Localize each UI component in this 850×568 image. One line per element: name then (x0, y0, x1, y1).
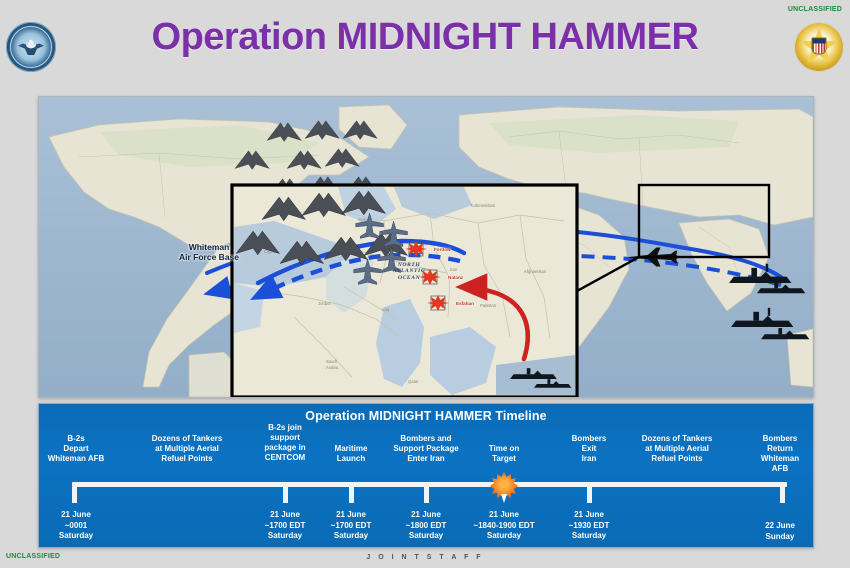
timeline-event-label: Time on Target (489, 444, 520, 464)
timeline-event-date: 21 June ~1930 EDT Saturday (569, 510, 610, 542)
timeline-event-date: 21 June ~1800 EDT Saturday (406, 510, 447, 542)
svg-text:Pakistan: Pakistan (480, 303, 497, 308)
timeline-event-label: Dozens of Tankers at Multiple Aerial Ref… (642, 434, 713, 464)
svg-text:Saudi: Saudi (326, 359, 337, 364)
timeline-tick (283, 487, 288, 503)
svg-text:Qatar: Qatar (408, 379, 419, 384)
operation-timeline: Operation MIDNIGHT HAMMER Timeline B-2s … (38, 403, 814, 548)
timeline-event-label: Bombers Return Whiteman AFB (761, 434, 799, 474)
svg-text:Iraq: Iraq (382, 307, 390, 312)
timeline-tick (587, 487, 592, 503)
svg-text:Arabia: Arabia (326, 365, 339, 370)
timeline-event-date: 21 June ~1700 EDT Saturday (265, 510, 306, 542)
time-on-target-pointer (501, 494, 507, 503)
operation-map: Turkey Turkmenistan Afghanistan Pakistan… (38, 96, 814, 398)
timeline-event-label: B-2s join support package in CENTCOM (264, 423, 305, 463)
timeline-event-label: Maritime Launch (335, 444, 368, 464)
svg-text:Iran: Iran (450, 267, 458, 272)
timeline-title: Operation MIDNIGHT HAMMER Timeline (39, 409, 813, 423)
page-title: Operation MIDNIGHT HAMMER (0, 16, 850, 59)
timeline-axis (72, 482, 787, 487)
timeline-event-date: 21 June ~0001 Saturday (59, 510, 93, 542)
slide-root: UNCLASSIFIED UNCLASSIFIED J O I N T S T … (0, 0, 850, 568)
timeline-event-date: 21 June ~1700 EDT Saturday (331, 510, 372, 542)
timeline-tick (780, 487, 785, 503)
svg-text:Turkmenistan: Turkmenistan (470, 203, 496, 208)
map-graphic: Turkey Turkmenistan Afghanistan Pakistan… (39, 97, 813, 397)
svg-text:Afghanistan: Afghanistan (524, 269, 547, 274)
timeline-event-label: B-2s Depart Whiteman AFB (48, 434, 105, 464)
timeline-tick (424, 487, 429, 503)
classification-top: UNCLASSIFIED (788, 6, 842, 13)
timeline-tick (349, 487, 354, 503)
producer-label: J O I N T S T A F F (0, 554, 850, 561)
timeline-event-label: Dozens of Tankers at Multiple Aerial Ref… (152, 434, 223, 464)
timeline-event-label: Bombers Exit Iran (572, 434, 607, 464)
svg-text:Jordan: Jordan (318, 301, 331, 306)
timeline-event-date: 22 June Sunday (765, 521, 795, 542)
timeline-tick (72, 487, 77, 503)
timeline-event-date: 21 June ~1840-1900 EDT Saturday (473, 510, 534, 542)
timeline-event-label: Bombers and Support Package Enter Iran (393, 434, 458, 464)
